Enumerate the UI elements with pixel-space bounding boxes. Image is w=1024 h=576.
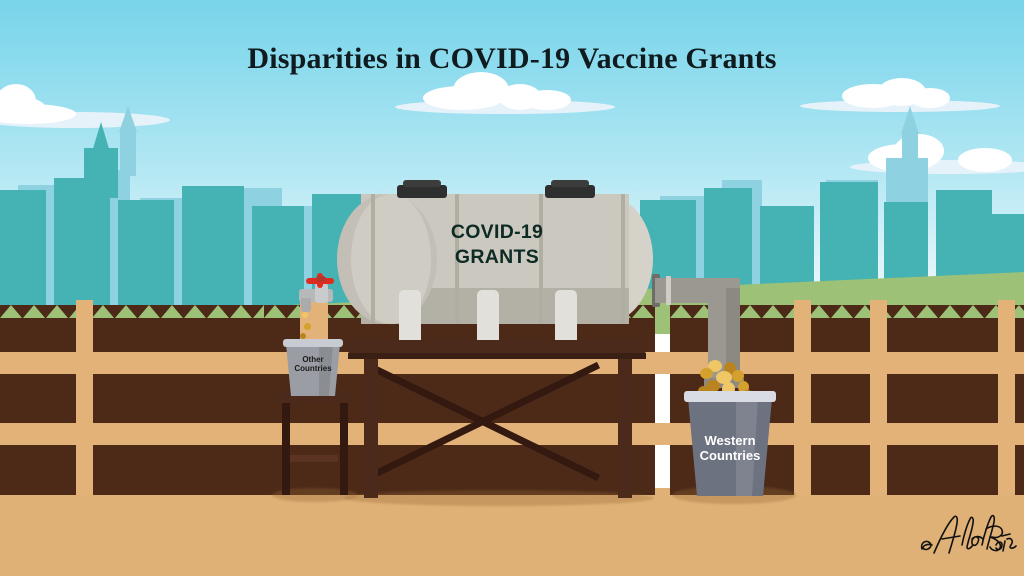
- table-leg-left: [364, 353, 378, 498]
- fence-section-1: [0, 305, 264, 495]
- table-shadow: [344, 490, 654, 506]
- artist-signature: [918, 505, 1018, 561]
- table-top-edge: [348, 353, 646, 359]
- other-countries-label: Other Countries: [286, 356, 340, 374]
- tank-label-line2: GRANTS: [407, 245, 587, 270]
- western-label-line2: Countries: [688, 449, 772, 464]
- other-countries-bucket: Other Countries: [283, 338, 343, 396]
- table-leg-right: [618, 353, 632, 498]
- faucet-outlet: [301, 298, 311, 312]
- stool-crossbar: [290, 455, 338, 462]
- page-title: Disparities in COVID-19 Vaccine Grants: [0, 42, 1024, 76]
- faucet-cap: [316, 276, 326, 282]
- western-countries-label: Western Countries: [688, 434, 772, 463]
- stool-leg-left: [282, 403, 290, 495]
- stool-leg-right: [340, 403, 348, 495]
- covid-grants-tank: COVID-19 GRANTS: [337, 194, 653, 324]
- western-label-line1: Western: [688, 434, 772, 449]
- tank-label-line1: COVID-19: [407, 220, 587, 245]
- illustration-canvas: COVID-19 GRANTS: [0, 0, 1024, 576]
- pipe-seam: [666, 276, 671, 305]
- table-top: [348, 340, 646, 353]
- fence-section-4: [870, 305, 1024, 495]
- other-label-line2: Countries: [286, 365, 340, 374]
- western-countries-bucket: Western Countries: [684, 388, 776, 498]
- tank-label: COVID-19 GRANTS: [407, 220, 587, 270]
